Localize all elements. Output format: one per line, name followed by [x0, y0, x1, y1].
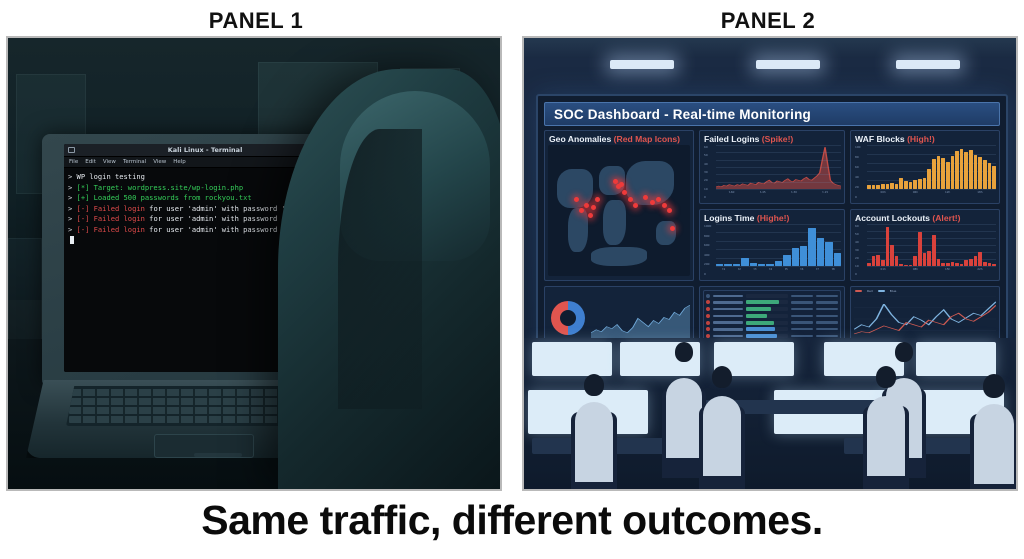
menu-help[interactable]: Help [173, 159, 186, 165]
window-icon [68, 147, 75, 153]
map-threat-marker[interactable] [622, 190, 627, 195]
ceiling-strip [524, 38, 1016, 58]
table-row[interactable] [706, 300, 838, 306]
x-tick: 01h [880, 267, 885, 271]
x-tick: 06h [913, 190, 918, 194]
bar [932, 235, 936, 266]
menu-view[interactable]: View [103, 159, 116, 165]
map-threat-marker[interactable] [595, 197, 600, 202]
bar [904, 181, 908, 189]
x-tick: t4 [769, 267, 772, 271]
hacker-scene: Kali Linux - Terminal File Edit View Ter… [8, 38, 500, 489]
card-logins-time[interactable]: Logins Time (Highe!) 10008006004002000 t… [699, 209, 845, 281]
bar [978, 157, 982, 189]
chart-legend: Red Blue [855, 289, 896, 293]
panel-2-frame: SOC Dashboard - Real-time Monitoring Fai… [522, 36, 1018, 491]
y-tick: 0 [704, 195, 706, 199]
map-threat-marker[interactable] [591, 205, 596, 210]
card-title-lockouts: Account Lockouts (Alert!) [855, 213, 995, 224]
bar [918, 179, 922, 189]
x-tick: t-15 [823, 190, 829, 194]
bar [904, 265, 908, 266]
table-row[interactable] [706, 320, 838, 326]
bar [817, 238, 824, 266]
y-tick: 30 [704, 170, 708, 174]
dashboard-title: SOC Dashboard - Real-time Monitoring [554, 107, 811, 122]
bar [792, 248, 799, 266]
x-tick: 12h [945, 190, 950, 194]
card-title-waf: WAF Blocks (High!) [855, 134, 995, 145]
menu-file[interactable]: File [69, 159, 78, 165]
dashboard-title-bar: SOC Dashboard - Real-time Monitoring [544, 102, 1000, 126]
bar [951, 262, 955, 266]
y-tick: 60 [855, 165, 859, 169]
bar [775, 261, 782, 266]
bar [964, 152, 968, 189]
bar [974, 155, 978, 189]
bar [867, 185, 871, 189]
y-tick: 40 [855, 175, 859, 179]
donut-chart [551, 301, 585, 335]
panel-1-frame: Kali Linux - Terminal File Edit View Ter… [6, 36, 502, 491]
y-tick: 50 [704, 153, 708, 157]
soc-analyst [964, 356, 1018, 491]
table-row[interactable] [706, 313, 838, 319]
x-tick: t-30 [791, 190, 797, 194]
x-tick: t1 [722, 267, 725, 271]
bar [913, 180, 917, 189]
x-tick: 15h [945, 267, 950, 271]
soc-analyst [692, 352, 752, 491]
x-tick: t6 [800, 267, 803, 271]
map-threat-marker[interactable] [628, 197, 633, 202]
bar [890, 245, 894, 266]
dashboard-grid: Failed Logins (Spike!) 6050403020100 t-6… [544, 130, 1000, 348]
bar [909, 265, 913, 266]
y-tick: 800 [704, 234, 710, 238]
map-continent [568, 208, 588, 253]
laptop-front-latch [194, 453, 242, 457]
bar [741, 258, 748, 266]
bar [932, 159, 936, 189]
chart-failed-logins: 6050403020100 t-60t-45t-30t-15 [704, 145, 841, 195]
bar [881, 184, 885, 189]
bar [834, 253, 841, 266]
figure-shadow [338, 129, 422, 409]
card-title-failed-logins: Failed Logins (Spike!) [704, 134, 840, 145]
y-tick: 60 [855, 224, 859, 228]
menu-terminal[interactable]: Terminal [123, 159, 146, 165]
bar [872, 185, 876, 189]
y-tick: 20 [855, 256, 859, 260]
ceiling-light [756, 60, 820, 69]
hooded-figure [278, 69, 502, 489]
card-account-lockouts[interactable]: Account Lockouts (Alert!) 6050403020100 … [850, 209, 1000, 281]
map-continent [591, 247, 648, 265]
bar [895, 256, 899, 266]
y-tick: 400 [704, 253, 710, 257]
map-continent [603, 200, 626, 245]
comic-caption: Same traffic, different outcomes. [0, 497, 1024, 544]
bar [983, 160, 987, 189]
x-tick: t7 [816, 267, 819, 271]
bar [876, 185, 880, 189]
bar [909, 182, 913, 189]
chart-logins-time: 10008006004002000 t1t2t3t4t5t6t7t8 [704, 224, 841, 272]
y-tick: 1000 [704, 224, 711, 228]
ceiling-light [610, 60, 674, 69]
table-row[interactable] [706, 306, 838, 312]
bar [978, 252, 982, 266]
bar [960, 149, 964, 189]
soc-floor [524, 338, 1016, 491]
y-tick: 0 [855, 195, 857, 199]
card-failed-logins[interactable]: Failed Logins (Spike!) 6050403020100 t-6… [699, 130, 845, 204]
y-tick: 80 [855, 155, 859, 159]
map-threat-marker[interactable] [619, 182, 624, 187]
bar [937, 259, 941, 266]
card-title-geo: Geo Anomalies (Red Map Icons) [549, 134, 689, 145]
sparkline-chart [591, 301, 690, 342]
ceiling-light [896, 60, 960, 69]
y-tick: 10 [855, 264, 859, 268]
y-tick: 0 [704, 272, 706, 276]
y-tick: 50 [855, 232, 859, 236]
map-continent [557, 169, 594, 208]
bar [825, 242, 832, 266]
bar [918, 232, 922, 266]
y-tick: 30 [855, 248, 859, 252]
card-waf-blocks[interactable]: WAF Blocks (High!) 100806040200 00h06h12… [850, 130, 1000, 204]
x-tick: 08h [913, 267, 918, 271]
bar [872, 256, 876, 266]
bar [941, 158, 945, 189]
bar [886, 227, 890, 266]
bar [927, 169, 931, 189]
bar [983, 262, 987, 266]
event-table[interactable] [703, 290, 841, 344]
x-tick: 00h [880, 190, 885, 194]
y-tick: 100 [855, 145, 861, 149]
menu-view-2[interactable]: View [153, 159, 166, 165]
bar [800, 246, 807, 266]
panel-1-label: PANEL 1 [0, 8, 512, 34]
bar [758, 264, 765, 266]
card-geo-anomalies[interactable]: Geo Anomalies (Red Map Icons) [544, 130, 694, 281]
bar [783, 255, 790, 266]
card-title-logins-time: Logins Time (Highe!) [704, 213, 840, 224]
bar [955, 263, 959, 266]
world-map [548, 145, 690, 276]
bar [937, 156, 941, 189]
bar [886, 184, 890, 189]
bar [724, 264, 731, 266]
chart-waf-blocks: 100806040200 00h06h12h18h [855, 145, 996, 195]
y-tick: 40 [855, 240, 859, 244]
bar [899, 178, 903, 189]
x-tick: t2 [738, 267, 741, 271]
soc-analyst [856, 352, 916, 491]
map-continent [626, 161, 674, 206]
x-tick: t8 [832, 267, 835, 271]
bar [969, 150, 973, 189]
bar [923, 178, 927, 189]
y-tick: 600 [704, 243, 710, 247]
y-tick: 20 [855, 185, 859, 189]
y-tick: 20 [704, 178, 708, 182]
bar [881, 260, 885, 266]
bar [951, 156, 955, 189]
map-threat-marker[interactable] [662, 203, 667, 208]
bar [960, 264, 964, 266]
bar [808, 228, 815, 266]
y-tick: 10 [704, 187, 708, 191]
soc-analyst [564, 356, 624, 491]
y-tick: 60 [704, 145, 708, 149]
map-threat-marker[interactable] [633, 203, 638, 208]
bar [946, 162, 950, 189]
bar [941, 263, 945, 266]
map-threat-marker[interactable] [584, 203, 589, 208]
map-continent [599, 166, 625, 195]
table-row[interactable] [706, 293, 838, 299]
bar [876, 255, 880, 266]
soc-scene: SOC Dashboard - Real-time Monitoring Fai… [524, 38, 1016, 489]
panel-2-label: PANEL 2 [512, 8, 1024, 34]
bar [974, 256, 978, 266]
menu-edit[interactable]: Edit [85, 159, 96, 165]
y-tick: 200 [704, 262, 710, 266]
bar [733, 264, 740, 266]
y-tick: 40 [704, 162, 708, 166]
bar [992, 166, 996, 189]
x-tick: 22h [977, 267, 982, 271]
video-wall: SOC Dashboard - Real-time Monitoring Fai… [536, 94, 1008, 356]
bar [927, 251, 931, 266]
bar [890, 183, 894, 189]
map-threat-marker[interactable] [667, 208, 672, 213]
bar [955, 151, 959, 189]
line-chart [854, 296, 996, 342]
map-threat-marker[interactable] [588, 213, 593, 218]
bar [946, 263, 950, 267]
bar [913, 256, 917, 266]
bar [988, 263, 992, 266]
bar [716, 264, 723, 266]
bar [766, 264, 773, 266]
bar [923, 253, 927, 266]
bar [899, 264, 903, 266]
table-row[interactable] [706, 326, 838, 332]
bar [988, 163, 992, 189]
bar [895, 184, 899, 189]
bar [867, 263, 871, 266]
x-tick: t-45 [760, 190, 766, 194]
bar [992, 264, 996, 266]
x-tick: 18h [977, 190, 982, 194]
terminal-title: Kali Linux - Terminal [168, 146, 243, 154]
chart-account-lockouts: 6050403020100 01h08h15h22h [855, 224, 996, 272]
comic-figure: PANEL 1 PANEL 2 Kali Linux - Terminal [0, 0, 1024, 559]
map-continent [656, 221, 676, 245]
map-threat-marker[interactable] [643, 195, 648, 200]
bar [969, 259, 973, 266]
bar [964, 260, 968, 266]
x-tick: t3 [754, 267, 757, 271]
y-tick: 0 [855, 272, 857, 276]
bar [750, 263, 757, 266]
x-tick: t-60 [729, 190, 735, 194]
x-tick: t5 [785, 267, 788, 271]
